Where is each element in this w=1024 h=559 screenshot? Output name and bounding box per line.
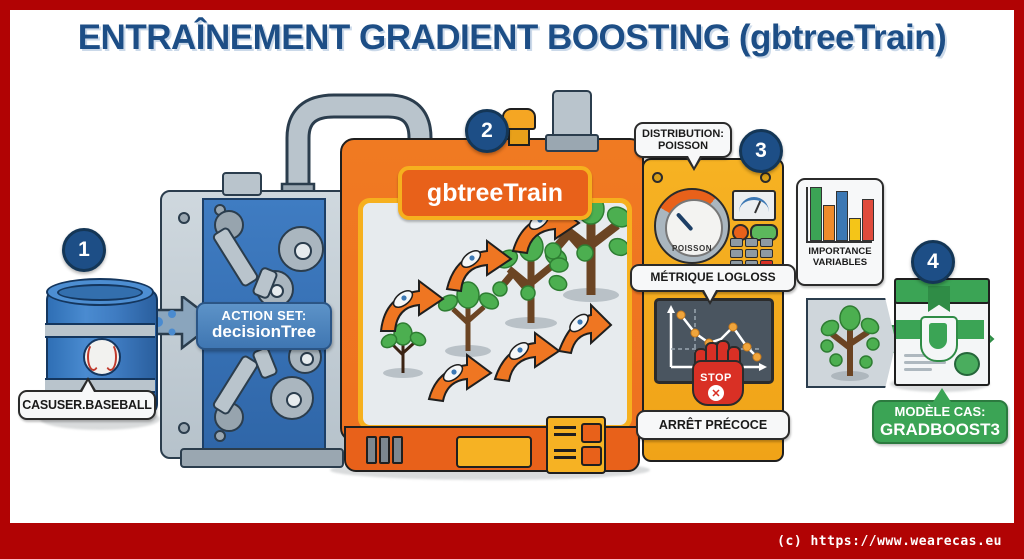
bolt-icon [652,172,663,183]
step-badge-4: 4 [911,240,955,284]
brain-icon [954,352,980,376]
casuser-baseball-label: CASUSER.BASEBALL [18,390,156,420]
early-stopping-label: ARRÊT PRÉCOCE [636,410,790,440]
barrel-ring [45,323,155,338]
vent-slot [379,436,390,464]
diagram-canvas: ENTRAÎNEMENT GRADIENT BOOSTING (gbtreeTr… [10,10,1014,523]
callout-tip [685,156,703,171]
variable-importance-chart [806,187,872,243]
early-stopping-text: ARRÊT PRÉCOCE [659,418,767,432]
small-meter [732,190,776,221]
panel-line [554,449,576,452]
barrel-top-inner [57,284,143,301]
training-visual-screen [358,198,632,430]
machine-foot [180,448,344,468]
footer-watermark: (c) https://www.wearecas.eu [0,523,1024,559]
side-control-panel[interactable] [546,416,606,474]
baseball-icon [83,338,121,376]
early-stopping-hand-icon: STOP ✕ [688,340,744,402]
gear-icon [270,376,314,420]
gbtree-train-machine: gbtreeTrain [340,138,640,468]
callout-tip [79,377,97,392]
final-tree-panel [806,298,896,388]
bar [823,205,835,241]
panel-button[interactable] [581,446,602,466]
boosting-trees-illustration [363,203,627,425]
bolt-icon [214,430,226,442]
step-badge-2: 2 [465,109,509,153]
access-hatch [456,436,532,468]
stack-flange [545,134,599,152]
action-set-title: ACTION SET: [198,309,330,323]
output-model-box [894,278,986,382]
callout-tip [701,290,719,305]
distribution-gauge[interactable]: POISSON [654,188,730,264]
variable-importance-caption: IMPORTANCE VARIABLES [798,246,882,269]
machine-vent [222,172,262,196]
bolt-icon [178,212,190,224]
hyperparameter-control-panel: POISSON MÉTRIQUE LOGLOSS [642,158,780,458]
final-tree-illustration [810,302,890,384]
gauge-label: POISSON [656,244,728,253]
caption-line-2: VARIABLES [798,257,882,268]
panel-line [554,433,576,436]
distribution-label: DISTRIBUTION: POISSON [634,122,732,158]
page-title: ENTRAÎNEMENT GRADIENT BOOSTING (gbtreeTr… [10,18,1014,58]
panel-line [554,456,576,459]
bolt-icon [760,172,771,183]
gear-icon [278,226,324,272]
panel-line [554,426,576,429]
machine-nameplate: gbtreeTrain [398,166,592,220]
copyright-text: (c) https://www.wearecas.eu [777,534,1002,549]
panel-button[interactable] [581,423,602,443]
stop-text: STOP [688,372,744,384]
model-output-label: MODÈLE CAS: GRADBOOST3 [872,400,1008,444]
variable-importance-card: IMPORTANCE VARIABLES [796,178,884,286]
stop-x-icon: ✕ [708,385,724,401]
bar [849,218,861,241]
action-set-value: decisionTree [198,323,330,342]
bar [862,199,874,241]
infographic-page: ENTRAÎNEMENT GRADIENT BOOSTING (gbtreeTr… [0,0,1024,559]
vent-slot [392,436,403,464]
casuser-baseball-text: CASUSER.BASEBALL [22,398,151,412]
shield-icon [920,316,958,362]
step-badge-3: 3 [739,129,783,173]
caption-line-1: IMPORTANCE [798,246,882,257]
shield-inner [929,323,947,349]
machine-base [344,426,640,472]
metric-logloss-text: MÉTRIQUE LOGLOSS [650,271,775,284]
label-tip [933,388,951,402]
vent-slot [366,436,377,464]
model-label-line-1: MODÈLE CAS: [874,405,1006,420]
model-label-line-2: GRADBOOST3 [874,420,1006,440]
bar [810,187,822,241]
bolt-icon [178,422,190,434]
distribution-title: DISTRIBUTION: [636,128,730,140]
step-badge-1: 1 [62,228,106,272]
action-set-label: ACTION SET: decisionTree [196,302,332,350]
distribution-value: POISSON [636,140,730,152]
metric-logloss-label: MÉTRIQUE LOGLOSS [630,264,796,292]
bar [836,191,848,241]
text-line [904,368,932,371]
